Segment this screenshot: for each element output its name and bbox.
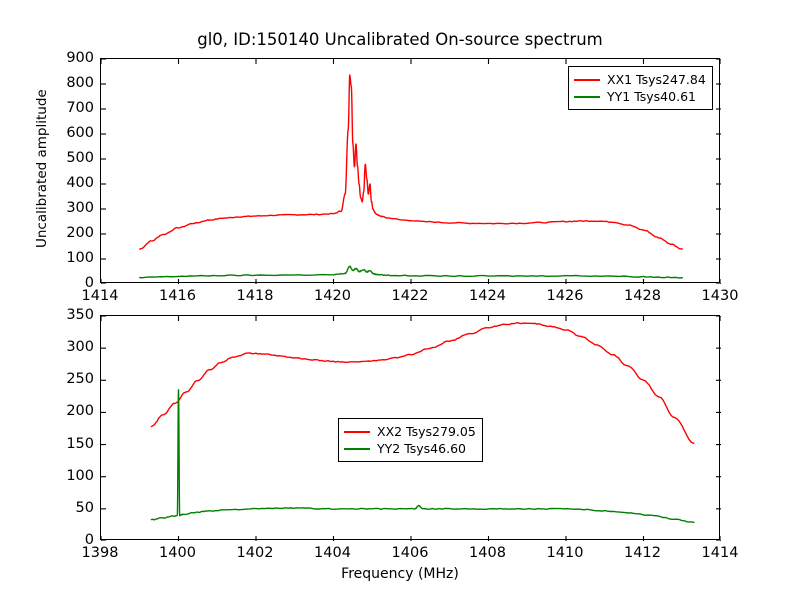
- x-tick-label: 1426: [535, 288, 595, 304]
- figure-canvas: gl0, ID:150140 Uncalibrated On-source sp…: [0, 0, 800, 600]
- legend-item-xx1: XX1 Tsys247.84: [574, 71, 706, 88]
- y-tick-label: 0: [48, 532, 94, 548]
- x-tick-label: 1410: [535, 545, 595, 561]
- legend-top: XX1 Tsys247.84 YY1 Tsys40.61: [568, 66, 713, 110]
- y-tick-label: 800: [48, 75, 94, 91]
- legend-line-swatch-yy2: [344, 448, 370, 450]
- y-tick-label: 700: [48, 100, 94, 116]
- y-tick-label: 0: [48, 275, 94, 291]
- legend-item-yy1: YY1 Tsys40.61: [574, 88, 706, 105]
- y-tick-label: 200: [48, 403, 94, 419]
- page-title: gl0, ID:150140 Uncalibrated On-source sp…: [0, 30, 800, 49]
- x-tick-label: 1412: [613, 545, 673, 561]
- x-tick-label: 1402: [225, 545, 285, 561]
- y-tick-label: 300: [48, 200, 94, 216]
- y-tick-label: 200: [48, 225, 94, 241]
- series-line-yy1: [140, 266, 683, 278]
- legend-bottom: XX2 Tsys279.05 YY2 Tsys46.60: [338, 418, 483, 462]
- x-axis-label: Frequency (MHz): [0, 566, 800, 582]
- x-tick-label: 1418: [225, 288, 285, 304]
- x-tick-label: 1414: [690, 545, 750, 561]
- y-tick-label: 150: [48, 436, 94, 452]
- x-tick-label: 1400: [148, 545, 208, 561]
- x-tick-label: 1422: [380, 288, 440, 304]
- x-tick-label: 1416: [148, 288, 208, 304]
- x-tick-label: 1404: [303, 545, 363, 561]
- x-tick-label: 1424: [458, 288, 518, 304]
- y-tick-label: 250: [48, 371, 94, 387]
- legend-line-swatch-xx2: [344, 431, 370, 433]
- y-tick-label: 100: [48, 468, 94, 484]
- y-tick-label: 600: [48, 125, 94, 141]
- legend-item-yy2: YY2 Tsys46.60: [344, 440, 476, 457]
- y-tick-label: 50: [48, 500, 94, 516]
- y-axis-label-top: Uncalibrated amplitude: [34, 89, 50, 248]
- legend-label-yy1: YY1 Tsys40.61: [607, 89, 696, 104]
- y-tick-label: 900: [48, 50, 94, 66]
- legend-label-yy2: YY2 Tsys46.60: [377, 441, 466, 456]
- x-tick-label: 1430: [690, 288, 750, 304]
- y-tick-label: 300: [48, 339, 94, 355]
- x-tick-label: 1428: [613, 288, 673, 304]
- x-tick-label: 1420: [303, 288, 363, 304]
- y-tick-label: 100: [48, 250, 94, 266]
- x-tick-label: 1406: [380, 545, 440, 561]
- y-tick-label: 350: [48, 307, 94, 323]
- legend-item-xx2: XX2 Tsys279.05: [344, 423, 476, 440]
- x-tick-label: 1408: [458, 545, 518, 561]
- legend-label-xx2: XX2 Tsys279.05: [377, 424, 476, 439]
- y-tick-label: 500: [48, 150, 94, 166]
- legend-label-xx1: XX1 Tsys247.84: [607, 72, 706, 87]
- legend-line-swatch-xx1: [574, 79, 600, 81]
- y-tick-label: 400: [48, 175, 94, 191]
- legend-line-swatch-yy1: [574, 96, 600, 98]
